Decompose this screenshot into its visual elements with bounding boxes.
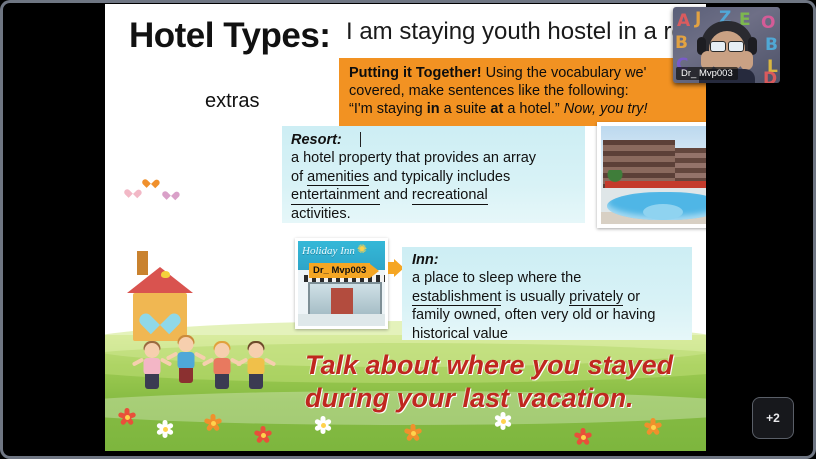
discussion-prompt: Talk about where you stayed during your … [305,349,705,415]
roof-shape [127,267,193,293]
pool-island [643,204,683,220]
child-figure [211,343,233,389]
screen-root: Talk about where you stayed during your … [0,0,816,459]
child-legs [249,374,263,389]
flower-decoration [405,425,421,441]
text-cursor [360,132,361,147]
participant-name-label: Dr_ Mvp003 [676,67,738,80]
page-title: Hotel Types: [129,16,330,56]
flower-decoration [495,413,511,429]
callout-l3a: “I'm staying [349,101,427,117]
resort-photo-image [601,126,706,224]
callout-line-1: Putting it Together! Using the vocabular… [349,64,706,82]
child-arm [132,357,144,366]
inn-line-1: a place to sleep where the [412,269,684,288]
hand-shape [740,51,753,70]
palm-tree-icon [605,170,625,192]
flower-decoration [205,415,221,431]
inn-definition-box: Inn: a place to sleep where the establis… [402,247,692,340]
resort-line-4: activities. [291,205,577,224]
callout-line1-rest: Using the vocabulary we' [482,65,647,81]
child-arm [236,357,248,366]
vocab-privately: privately [569,289,623,307]
child-body [178,352,195,369]
more-participants-badge[interactable]: +2 [752,397,794,439]
flower-decoration [119,409,135,425]
annotation-name-arrow: Dr_ Mvp003 [309,263,379,278]
children-illustration [113,325,303,389]
participant-video-tile[interactable]: A J Z E O B B C L D Dr_ Mvp003 [673,7,780,83]
resort-line-3: entertainment and recreational [291,186,577,205]
holiday-inn-image: Holiday Inn ✺ [298,241,385,326]
resort-line-2: of amenities and typically includes [291,168,577,187]
callout-preposition-at: at [490,101,503,117]
prompt-line-2: during your last vacation. [305,382,705,415]
inn-line-2: establishment is usually privately or [412,288,684,307]
vocab-recreational: recreational [412,187,488,205]
vocab-establishment: establishment [412,289,501,307]
vocab-amenities: amenities [307,169,369,187]
child-body [144,358,161,375]
inn-definition-text: a place to sleep where the establishment… [412,269,684,343]
callout-line-3: “I'm staying in a suite at a hotel.” Now… [349,100,706,118]
child-body [248,358,265,375]
heart-window-icon [147,305,173,327]
child-body [214,358,231,375]
resort-definition-text: a hotel property that provides an array … [291,149,577,223]
heart-decoration [165,188,176,198]
resort-term: Resort: [291,131,577,149]
extras-label: extras [205,90,259,113]
putting-it-together-callout: Putting it Together! Using the vocabular… [339,58,706,126]
child-head [145,343,160,358]
child-arm [194,351,206,360]
heart-decoration [127,186,138,196]
child-legs [215,374,229,389]
bird-icon [161,271,170,278]
child-figure [175,337,197,389]
hotel-sign-text: Holiday Inn [302,245,381,257]
child-legs [179,368,193,383]
holiday-inn-photo: Holiday Inn ✺ [295,238,388,329]
child-head [215,343,230,358]
inn-term: Inn: [412,251,684,269]
child-figure [141,343,163,389]
callout-preposition-in: in [427,101,440,117]
flower-decoration [157,421,173,437]
resort-line-1: a hotel property that provides an array [291,149,577,168]
child-head [179,337,194,352]
child-figure [245,343,267,389]
child-head [249,343,264,358]
child-arm [264,357,276,366]
inn-line-4: historical value [412,325,684,344]
callout-now-you-try: Now, you try! [564,101,648,117]
resort-definition-box: Resort: a hotel property that provides a… [282,126,585,223]
callout-lead: Putting it Together! [349,65,482,81]
callout-l3c: a hotel.” [503,101,563,117]
arrow-head-icon [370,264,379,278]
ground-shadow [298,314,385,326]
star-icon: ✺ [357,242,367,256]
resort-photo [597,122,706,228]
child-legs [145,374,159,389]
vocab-entertainment: entertainment [291,187,380,205]
flower-decoration [315,417,331,433]
annotation-name-label: Dr_ Mvp003 [309,263,370,278]
slide-canvas[interactable]: Talk about where you stayed during your … [105,4,706,451]
typed-answer-text[interactable]: I am staying youth hostel in a roo [346,18,698,46]
prompt-line-1: Talk about where you stayed [305,349,705,382]
inn-line-3: family owned, often very old or having [412,306,684,325]
callout-line-2: covered, make sentences like the followi… [349,82,706,100]
child-arm [166,351,178,360]
flower-decoration [575,429,591,445]
heart-decoration [145,176,156,186]
flower-decoration [255,427,271,443]
callout-l3b: a suite [440,101,491,117]
flower-decoration [645,419,661,435]
